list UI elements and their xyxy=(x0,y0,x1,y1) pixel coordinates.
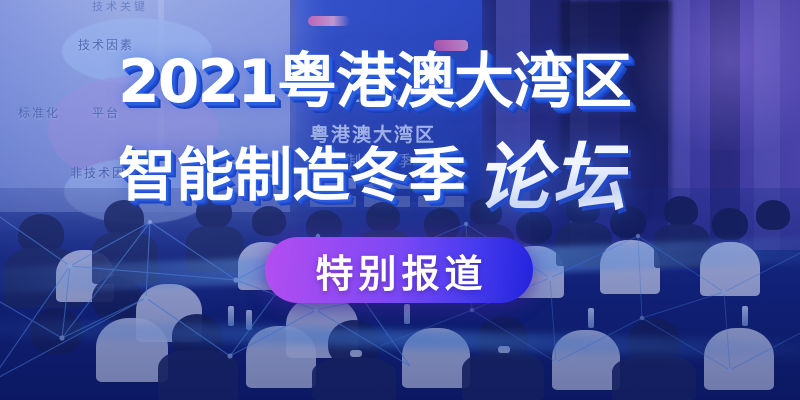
banner-title-block: 2021粤港澳大湾区 智能制造冬季论坛 xyxy=(0,0,800,400)
title-region: 粤港澳大湾区 xyxy=(277,48,631,115)
title-line-two: 智能制造冬季论坛 xyxy=(118,133,628,207)
title-forum-script: 论坛 xyxy=(476,135,628,221)
conference-banner: 2021 粤港澳大湾区 智能制造冬季论坛 技术关键 技术因素 标准化 平台 非技… xyxy=(0,0,800,400)
special-report-badge-label: 特别报道 xyxy=(310,243,487,298)
title-line-one: 2021粤港澳大湾区 xyxy=(118,52,631,112)
title-subject: 智能制造冬季 xyxy=(118,143,466,208)
title-year: 2021 xyxy=(118,47,277,117)
special-report-badge[interactable]: 特别报道 xyxy=(265,237,533,303)
